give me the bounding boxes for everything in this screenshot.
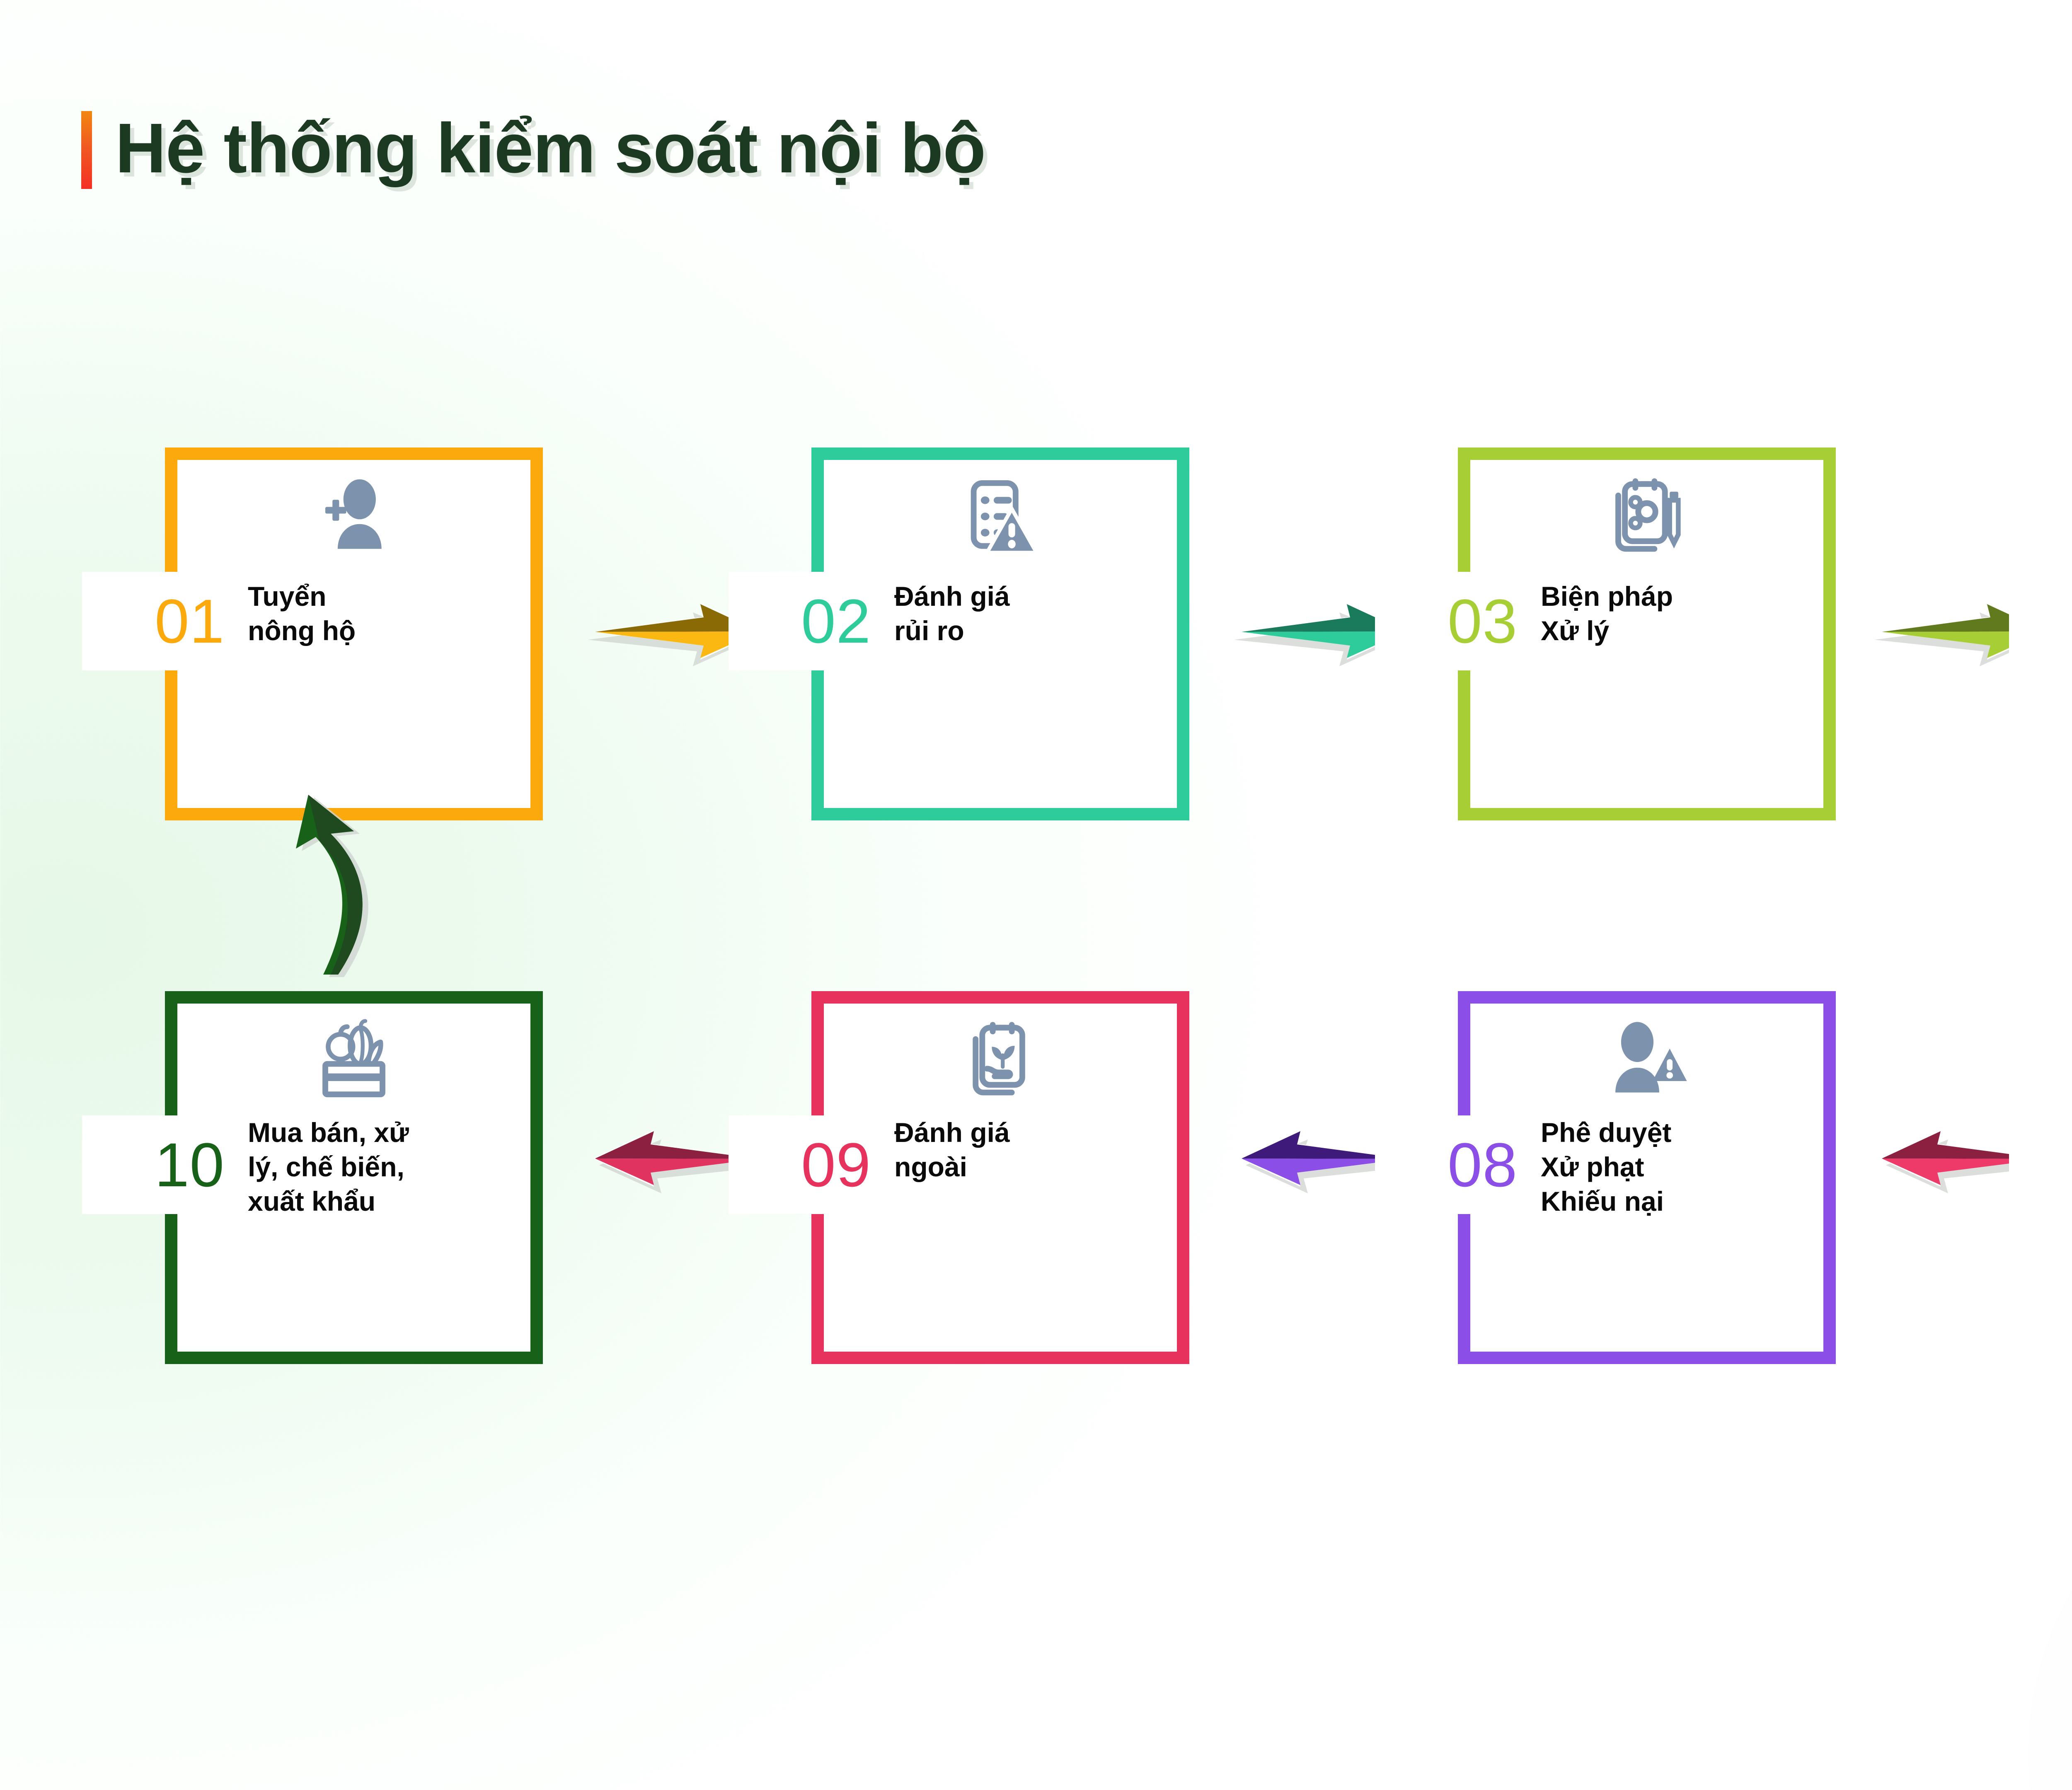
step-card-10[interactable]: 10 Mua bán, xử lý, chế biến, xuất khẩu [165, 991, 543, 1364]
step-number-badge: 02 [729, 572, 874, 670]
step-label-10: Mua bán, xử lý, chế biến, xuất khẩu [248, 1115, 546, 1219]
step-number-badge: 01 [82, 572, 228, 670]
step-label-08: Phê duyệt Xử phạt Khiếu nại [1541, 1115, 1839, 1219]
page-title: Hệ thống kiểm soát nội bộ [115, 111, 985, 189]
step-card-02[interactable]: 02 Đánh giá rủi ro [811, 447, 1189, 820]
arrow-10-to-01 [269, 787, 409, 978]
title-accent-bar [81, 111, 92, 189]
background-watermark-shape-4 [1942, 1349, 2072, 1790]
step-card-01[interactable]: 01 Tuyển nông hộ [165, 447, 543, 820]
clipboard-hand-plant-icon [811, 1010, 1189, 1114]
step-number-badge: 10 [82, 1115, 228, 1214]
step-number-badge: 07 [2009, 1115, 2072, 1214]
step-number-08: 08 [1447, 1134, 1518, 1196]
step-label-09: Đánh giá ngoài [894, 1115, 1193, 1184]
step-number-03: 03 [1447, 590, 1518, 652]
step-number-badge: 04 [2009, 572, 2072, 670]
step-number-02: 02 [801, 590, 871, 652]
step-number-01: 01 [155, 590, 225, 652]
step-number-badge: 03 [1375, 572, 1521, 670]
user-plus-icon [165, 467, 543, 570]
step-label-01: Tuyển nông hộ [248, 579, 538, 648]
checklist-warning-icon [811, 467, 1189, 570]
step-label-02: Đánh giá rủi ro [894, 579, 1184, 648]
user-warning-icon [1458, 1010, 1836, 1114]
step-number-09: 09 [801, 1134, 871, 1196]
step-card-08[interactable]: 08 Phê duyệt Xử phạt Khiếu nại [1458, 991, 1836, 1364]
page-header: Hệ thống kiểm soát nội bộ [81, 111, 985, 189]
clipboard-gears-pencil-icon [1458, 467, 1836, 570]
fruit-crate-icon [165, 1010, 543, 1114]
step-number-10: 10 [155, 1134, 225, 1196]
step-card-03[interactable]: 03 Biện pháp Xử lý [1458, 447, 1836, 820]
step-card-09[interactable]: 09 Đánh giá ngoài [811, 991, 1189, 1364]
step-label-03: Biện pháp Xử lý [1541, 579, 1831, 648]
step-number-badge: 09 [729, 1115, 874, 1214]
step-number-badge: 08 [1375, 1115, 1521, 1214]
